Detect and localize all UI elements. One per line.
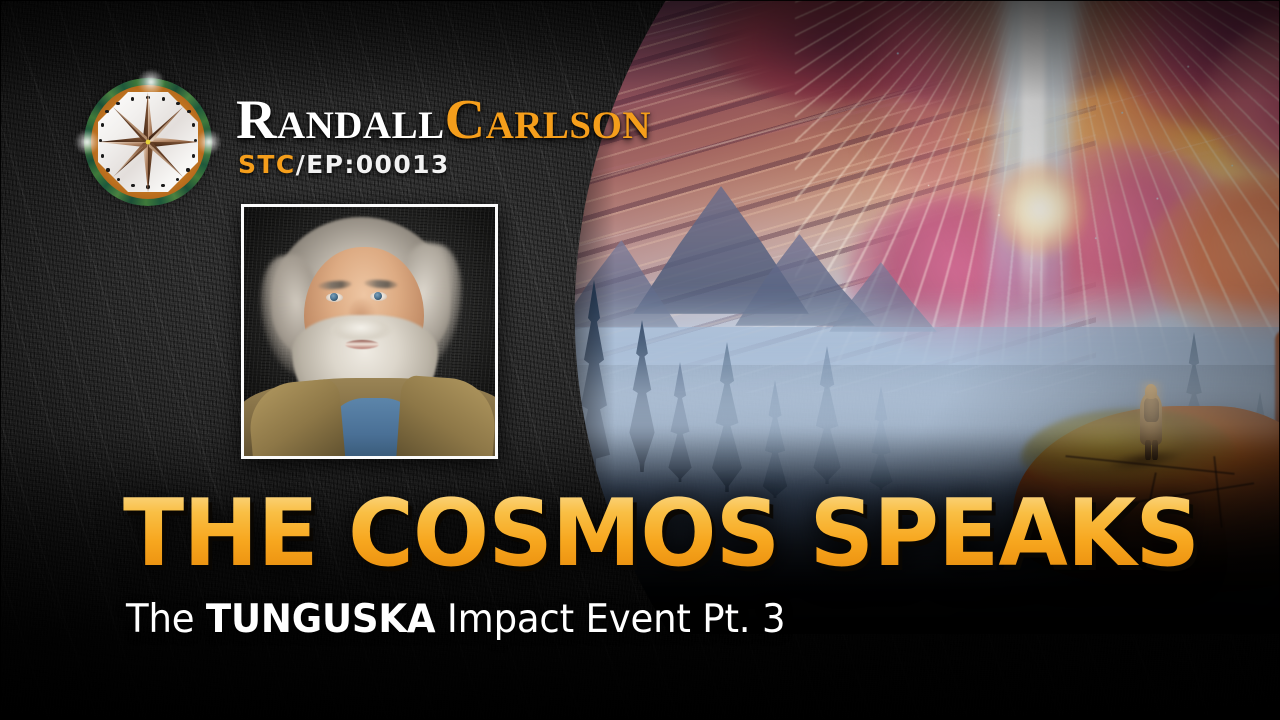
logo-glint bbox=[136, 70, 166, 94]
portrait-iris bbox=[330, 293, 338, 301]
compass-rose-logo[interactable] bbox=[84, 78, 212, 206]
host-name: RandallCarlson bbox=[236, 92, 651, 148]
portrait-mouth bbox=[345, 340, 379, 349]
show-code: STC bbox=[238, 150, 296, 179]
logo-glint bbox=[74, 130, 100, 154]
subtitle-keyword: TUNGUSKA bbox=[206, 597, 435, 642]
subtitle-lead: The bbox=[126, 597, 206, 642]
portrait-iris bbox=[374, 292, 382, 300]
compass-star-icon bbox=[92, 86, 204, 198]
logo-glint bbox=[196, 130, 222, 154]
portrait-mustache bbox=[330, 319, 392, 341]
host-first-name: Randall bbox=[236, 89, 445, 151]
main-title: THE COSMOS SPEAKS bbox=[123, 489, 1199, 578]
episode-label: EP:00013 bbox=[306, 150, 450, 179]
host-portrait[interactable] bbox=[241, 204, 498, 459]
host-last-name: Carlson bbox=[445, 89, 651, 151]
episode-code: STC/EP:00013 bbox=[238, 152, 450, 177]
subtitle-tail: Impact Event Pt. 3 bbox=[435, 597, 785, 642]
subtitle: The TUNGUSKA Impact Event Pt. 3 bbox=[126, 600, 785, 641]
episode-separator: / bbox=[296, 150, 307, 179]
video-thumbnail: RandallCarlson STC/EP:00013 THE COSMOS S… bbox=[0, 0, 1280, 720]
episode-number: /EP:00013 bbox=[296, 150, 450, 179]
